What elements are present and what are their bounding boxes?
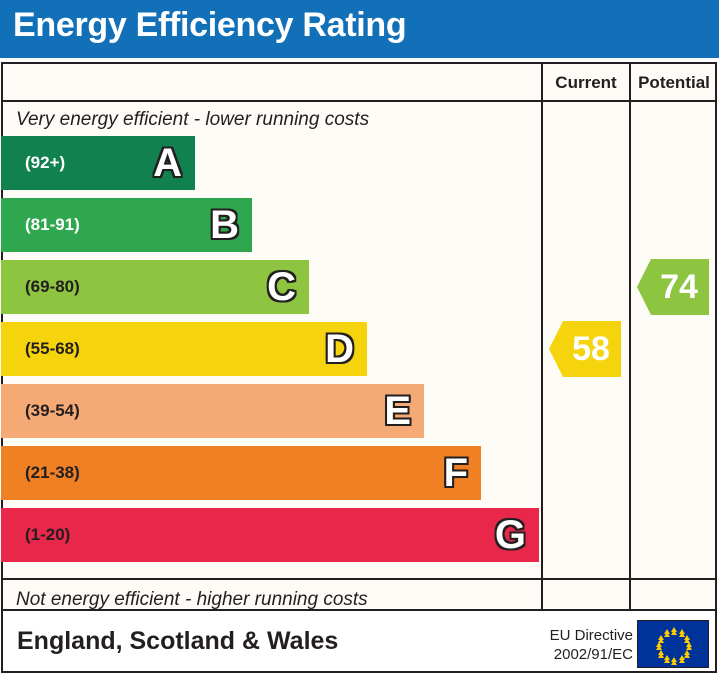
band-range-f: (21-38) (25, 463, 80, 483)
band-range-c: (69-80) (25, 277, 80, 297)
eu-flag-star (686, 642, 692, 647)
band-letter-f: F (444, 453, 468, 493)
band-letter-b: B (210, 205, 239, 245)
potential-rating-value: 74 (660, 268, 698, 307)
band-range-b: (81-91) (25, 215, 80, 235)
band-e: (39-54)E (1, 384, 424, 438)
band-range-a: (92+) (25, 153, 65, 173)
eu-flag-star (658, 635, 664, 640)
directive-line-2: 2002/91/EC (523, 645, 633, 664)
energy-efficiency-rating-certificate: Energy Efficiency Rating Current Potenti… (0, 0, 719, 675)
directive-line-1: EU Directive (523, 626, 633, 645)
eu-flag-star (664, 655, 670, 660)
band-letter-d: D (325, 329, 354, 369)
potential-rating-arrow: 74 (637, 259, 709, 315)
eu-flag-star (656, 642, 662, 647)
header-divider (1, 100, 717, 102)
eu-flag-icon (637, 620, 709, 668)
band-d: (55-68)D (1, 322, 367, 376)
eu-flag-star (679, 655, 685, 660)
footer-region-label: England, Scotland & Wales (17, 627, 338, 656)
current-column-divider (541, 62, 543, 611)
eu-flag-star (664, 629, 670, 634)
footer-directive: EU Directive 2002/91/EC (523, 626, 633, 664)
caption-bottom: Not energy efficient - higher running co… (16, 589, 368, 611)
bottom-caption-divider (1, 578, 717, 580)
band-range-d: (55-68) (25, 339, 80, 359)
eu-flag-star (679, 629, 685, 634)
band-range-g: (1-20) (25, 525, 70, 545)
caption-top: Very energy efficient - lower running co… (16, 109, 369, 131)
band-f: (21-38)F (1, 446, 481, 500)
band-letter-g: G (495, 515, 526, 555)
page-title: Energy Efficiency Rating (13, 6, 406, 45)
rating-bands: (92+)A(81-91)B(69-80)C(55-68)D(39-54)E(2… (1, 136, 541, 576)
eu-flag-star (684, 650, 690, 655)
eu-flag-star (684, 635, 690, 640)
title-bar: Energy Efficiency Rating (0, 0, 719, 58)
eu-flag-star (658, 650, 664, 655)
band-b: (81-91)B (1, 198, 252, 252)
band-letter-e: E (384, 391, 411, 431)
column-header-current: Current (543, 70, 629, 96)
current-rating-value: 58 (572, 330, 610, 369)
footer: England, Scotland & Wales EU Directive 2… (1, 611, 717, 673)
band-letter-c: C (267, 267, 296, 307)
column-header-potential: Potential (631, 70, 717, 96)
band-g: (1-20)G (1, 508, 539, 562)
band-letter-a: A (153, 143, 182, 183)
band-c: (69-80)C (1, 260, 309, 314)
band-range-e: (39-54) (25, 401, 80, 421)
eu-flag-star (671, 627, 677, 632)
current-rating-arrow: 58 (549, 321, 621, 377)
band-a: (92+)A (1, 136, 195, 190)
potential-column-divider (629, 62, 631, 611)
eu-flag-star (671, 657, 677, 662)
